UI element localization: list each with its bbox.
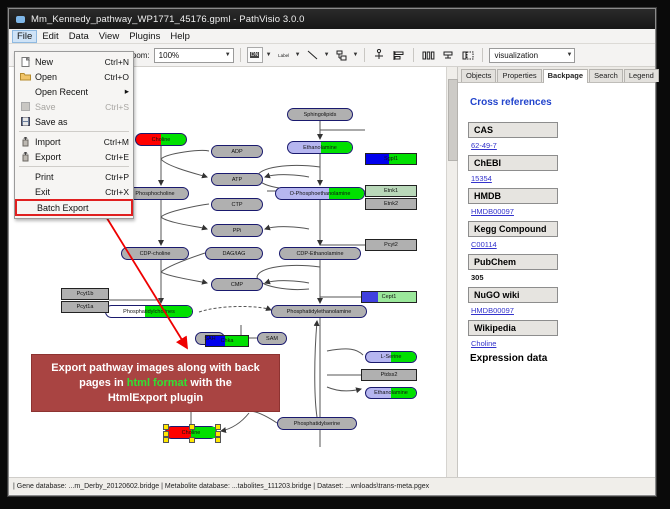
resize-handle[interactable] xyxy=(163,424,169,430)
menu-item-accelerator: Ctrl+M xyxy=(104,137,129,147)
file-menu-rows: NewCtrl+NOpenCtrl+OOpen Recent▸SaveCtrl+… xyxy=(15,54,133,216)
menu-view[interactable]: View xyxy=(94,30,124,43)
node-label: Choline xyxy=(182,430,201,436)
menu-item-print[interactable]: PrintCtrl+P xyxy=(15,169,133,184)
anchor-glyph xyxy=(373,49,385,61)
tab-search[interactable]: Search xyxy=(589,69,623,82)
chevron-down-icon-2: ▼ xyxy=(567,52,573,58)
interaction-dropdown-icon[interactable]: ▼ xyxy=(353,52,359,58)
zoom-value: 100% xyxy=(159,51,179,60)
node-label: Sgpl1 xyxy=(384,156,398,162)
node-label: PPi xyxy=(233,228,242,234)
metabolite-node-ppi[interactable]: PPi xyxy=(211,224,263,237)
gene-node-ptdss2[interactable]: Ptdss2 xyxy=(361,369,417,381)
menu-item-import[interactable]: ImportCtrl+M xyxy=(15,134,133,149)
node-label: CMP xyxy=(231,282,243,288)
node-label: CDP-Ethanolamine xyxy=(296,251,343,257)
menu-item-accelerator: Ctrl+P xyxy=(105,172,129,182)
cross-reference-entry: PubChem305 xyxy=(468,254,647,282)
resize-handle[interactable] xyxy=(163,431,169,437)
tab-objects[interactable]: Objects xyxy=(461,69,496,82)
cross-reference-db-name: NuGO wiki xyxy=(468,287,558,303)
node-label: Pcyt1a xyxy=(77,304,94,310)
align-left-glyph xyxy=(393,50,405,61)
menu-item-accelerator: Ctrl+S xyxy=(105,102,129,112)
node-label: O-Phosphoethanolamine xyxy=(290,191,351,197)
node-label: Phosphatidylcholines xyxy=(123,309,175,315)
cross-reference-db-name: CAS xyxy=(468,122,558,138)
screenshot-root: Mm_Kennedy_pathway_WP1771_45176.gpml - P… xyxy=(0,0,670,509)
datanode-tool-icon[interactable]: DN xyxy=(247,47,263,63)
cross-reference-db-name: HMDB xyxy=(468,188,558,204)
menu-item-label: Print xyxy=(35,172,105,182)
application-window: Mm_Kennedy_pathway_WP1771_45176.gpml - P… xyxy=(8,8,656,496)
cross-reference-entry: ChEBI15354 xyxy=(468,155,647,183)
submenu-arrow-icon: ▸ xyxy=(125,86,129,97)
datanode-dropdown-icon[interactable]: ▼ xyxy=(266,52,272,58)
menu-plugins[interactable]: Plugins xyxy=(124,30,165,43)
menu-item-label: Exit xyxy=(35,187,105,197)
node-label: SAM xyxy=(266,336,278,342)
window-title: Mm_Kennedy_pathway_WP1771_45176.gpml - P… xyxy=(31,14,305,25)
callout-line2-post: with the xyxy=(187,377,232,389)
cross-reference-db-name: Kegg Compound xyxy=(468,221,558,237)
pathvisio-icon xyxy=(15,14,26,25)
label-dropdown-icon[interactable]: ▼ xyxy=(295,52,301,58)
metabolite-node-adp[interactable]: ADP xyxy=(211,145,263,158)
save-as-icon xyxy=(19,116,32,127)
interaction-tool-icon[interactable] xyxy=(334,48,350,62)
toolbar-separator-2 xyxy=(364,48,365,62)
menu-divider xyxy=(19,166,129,167)
callout-line3: HtmlExport plugin xyxy=(108,392,203,404)
node-label: Ethanolamine xyxy=(303,145,337,151)
cross-reference-entry: NuGO wikiHMDB00097 xyxy=(468,287,647,315)
menu-item-label: New xyxy=(35,57,105,67)
node-label: CTP xyxy=(232,202,243,208)
node-label: Etnk2 xyxy=(384,201,398,207)
metabolite-node-cdp-ethanolamine[interactable]: CDP-Ethanolamine xyxy=(279,247,361,260)
datanode-glyph: DN xyxy=(250,52,259,58)
canvas-vertical-scrollbar[interactable] xyxy=(446,67,457,477)
metabolite-node-phosphatidylethanolamine[interactable]: Phosphatidylethanolamine xyxy=(271,305,367,318)
menu-bar: File Edit Data View Plugins Help xyxy=(9,29,655,44)
group-tool-icon[interactable] xyxy=(460,48,476,62)
node-label: SAH xyxy=(204,336,215,342)
menu-item-label: Open Recent xyxy=(35,87,125,97)
cross-reference-list: CAS62-49-7ChEBI15354HMDBHMDB00097Kegg Co… xyxy=(468,122,647,348)
metabolite-node-sphingolipids[interactable]: Sphingolipids xyxy=(287,108,353,121)
menu-item-label: Export xyxy=(35,152,105,162)
metabolite-node-choline[interactable]: Choline xyxy=(135,133,187,146)
interaction-glyph xyxy=(336,50,348,61)
resize-handle[interactable] xyxy=(163,437,169,443)
menu-item-label: Import xyxy=(35,137,104,147)
stack-tool-icon[interactable] xyxy=(440,48,456,62)
node-label: Ethanolamine xyxy=(374,390,408,396)
cross-references-title: Cross references xyxy=(470,97,647,108)
line-glyph xyxy=(307,50,319,60)
status-bar: | Gene database: ...m_Derby_20120602.bri… xyxy=(9,477,655,494)
gene-node-pcyt2[interactable]: Pcyt2 xyxy=(365,239,417,251)
export-icon xyxy=(19,151,32,162)
metabolite-node-phosphatidylserine[interactable]: Phosphatidylserine xyxy=(277,417,357,430)
distribute-glyph xyxy=(422,50,435,61)
align-left-tool-icon[interactable] xyxy=(391,48,407,62)
node-label: Cept1 xyxy=(382,294,397,300)
metabolite-node-sam[interactable]: SAM xyxy=(257,332,287,345)
node-label: Ptdss2 xyxy=(381,372,398,378)
resize-handle[interactable] xyxy=(215,437,221,443)
resize-handle[interactable] xyxy=(189,437,195,443)
node-label: Phosphatidylethanolamine xyxy=(287,309,352,315)
backpage-content: Cross references CAS62-49-7ChEBI15354HMD… xyxy=(458,83,655,477)
distribute-tool-icon[interactable] xyxy=(420,48,436,62)
gene-node-etnk2[interactable]: Etnk2 xyxy=(365,198,417,210)
cross-reference-link[interactable]: C00114 xyxy=(471,240,647,249)
cross-reference-link[interactable]: Choline xyxy=(471,339,647,348)
menu-no-icon xyxy=(19,86,32,97)
cross-reference-entry: Kegg CompoundC00114 xyxy=(468,221,647,249)
menu-item-batch-export[interactable]: Batch Export xyxy=(15,199,133,216)
resize-handle[interactable] xyxy=(215,431,221,437)
new-file-icon xyxy=(19,56,32,67)
gene-node-etnk1[interactable]: Etnk1 xyxy=(365,185,417,197)
menu-item-exit[interactable]: ExitCtrl+X xyxy=(15,184,133,199)
toolbar-separator xyxy=(240,48,241,62)
visualization-combo[interactable]: visualization ▼ xyxy=(489,48,575,63)
cross-reference-entry: HMDBHMDB00097 xyxy=(468,188,647,216)
menu-help[interactable]: Help xyxy=(165,30,195,43)
menu-item-label: Open xyxy=(35,72,104,82)
node-label: ATP xyxy=(232,177,242,183)
menu-item-label: Save xyxy=(35,102,105,112)
node-label: ADP xyxy=(231,149,242,155)
node-label: CDP-choline xyxy=(140,251,171,257)
menu-item-open[interactable]: OpenCtrl+O xyxy=(15,69,133,84)
metabolite-node-ethanolamine[interactable]: Ethanolamine xyxy=(287,141,353,154)
node-label: Pcyt1b xyxy=(77,291,94,297)
cross-reference-link[interactable]: HMDB00097 xyxy=(471,306,647,315)
metabolite-node-choline[interactable]: Choline xyxy=(165,426,217,439)
open-folder-icon xyxy=(19,71,32,82)
menu-item-save: SaveCtrl+S xyxy=(15,99,133,114)
gene-node-pcyt1b[interactable]: Pcyt1b xyxy=(61,288,109,300)
menu-item-label: Save as xyxy=(35,117,129,127)
import-icon xyxy=(19,136,32,147)
menu-no-icon xyxy=(21,202,34,213)
metabolite-node-dag-iag[interactable]: DAG/IAG xyxy=(205,247,263,260)
menu-item-accelerator: Ctrl+O xyxy=(104,72,129,82)
menu-item-open-recent[interactable]: Open Recent▸ xyxy=(15,84,133,99)
menu-no-icon xyxy=(19,186,32,197)
expression-data-title: Expression data xyxy=(470,353,647,364)
group-glyph xyxy=(462,50,474,61)
anchor-tool-icon[interactable] xyxy=(371,48,387,62)
node-label: L-Serine xyxy=(381,354,402,360)
tab-legend[interactable]: Legend xyxy=(624,69,659,82)
metabolite-node-ethanolamine[interactable]: Ethanolamine xyxy=(365,387,417,399)
metabolite-node-phosphatidylcholines[interactable]: Phosphatidylcholines xyxy=(105,305,193,318)
node-label: Chka xyxy=(221,338,234,344)
line-tool-icon[interactable] xyxy=(305,48,321,62)
cross-reference-link[interactable]: 15354 xyxy=(471,174,647,183)
file-menu-dropdown[interactable]: NewCtrl+NOpenCtrl+OOpen Recent▸SaveCtrl+… xyxy=(14,51,134,219)
menu-item-label: Batch Export xyxy=(37,203,127,213)
tab-backpage[interactable]: Backpage xyxy=(543,69,588,83)
menu-item-accelerator: Ctrl+E xyxy=(105,152,129,162)
title-bar: Mm_Kennedy_pathway_WP1771_45176.gpml - P… xyxy=(9,9,655,29)
menu-divider xyxy=(19,131,129,132)
save-icon xyxy=(19,101,32,112)
metabolite-node-atp[interactable]: ATP xyxy=(211,173,263,186)
callout-line2-green: html format xyxy=(127,377,188,389)
gene-node-sgpl1[interactable]: Sgpl1 xyxy=(365,153,417,165)
toolbar-separator-3 xyxy=(413,48,414,62)
menu-item-accelerator: Ctrl+X xyxy=(105,187,129,197)
annotation-callout: Export pathway images along with back pa… xyxy=(31,354,280,412)
cross-reference-link[interactable]: HMDB00097 xyxy=(471,207,647,216)
node-label: Choline xyxy=(152,137,171,143)
metabolite-node-cdp-choline[interactable]: CDP-choline xyxy=(121,247,189,260)
node-label: Pcyt2 xyxy=(384,242,398,248)
zoom-combo[interactable]: 100% ▼ xyxy=(154,48,234,63)
metabolite-node-cmp[interactable]: CMP xyxy=(211,278,263,291)
gene-node-pcyt1a[interactable]: Pcyt1a xyxy=(61,301,109,313)
cross-reference-db-name: Wikipedia xyxy=(468,320,558,336)
chevron-down-icon: ▼ xyxy=(225,52,231,58)
metabolite-node-l-serine[interactable]: L-Serine xyxy=(365,351,417,363)
menu-data[interactable]: Data xyxy=(64,30,94,43)
node-label: Phosphatidylserine xyxy=(294,421,340,427)
menu-item-new[interactable]: NewCtrl+N xyxy=(15,54,133,69)
menu-no-icon xyxy=(19,171,32,182)
side-panel-tabs: Objects Properties Backpage Search Legen… xyxy=(458,67,655,83)
gene-node-cept1[interactable]: Cept1 xyxy=(361,291,417,303)
menu-edit[interactable]: Edit xyxy=(37,30,63,43)
resize-handle[interactable] xyxy=(215,424,221,430)
cross-reference-entry: WikipediaCholine xyxy=(468,320,647,348)
node-label: DAG/IAG xyxy=(223,251,246,257)
callout-line1: Export pathway images along with back xyxy=(51,362,259,374)
menu-file[interactable]: File xyxy=(12,30,37,43)
menu-item-export[interactable]: ExportCtrl+E xyxy=(15,149,133,164)
toolbar-separator-4 xyxy=(482,48,483,62)
canvas-scroll-thumb[interactable] xyxy=(448,79,458,161)
tab-properties[interactable]: Properties xyxy=(497,69,541,82)
status-text: | Gene database: ...m_Derby_20120602.bri… xyxy=(13,483,429,490)
cross-reference-db-name: PubChem xyxy=(468,254,558,270)
node-label: Etnk1 xyxy=(384,188,398,194)
callout-line2-pre: pages in xyxy=(79,377,127,389)
stack-glyph xyxy=(442,50,454,61)
label-tool-icon[interactable]: Label xyxy=(276,48,292,62)
cross-reference-link[interactable]: 62-49-7 xyxy=(471,141,647,150)
metabolite-node-o-phosphoethanolamine[interactable]: O-Phosphoethanolamine xyxy=(275,187,365,200)
cross-reference-value: 305 xyxy=(471,273,647,282)
node-label: Phosphocholine xyxy=(135,191,174,197)
visualization-value: visualization xyxy=(494,51,538,60)
node-label: Sphingolipids xyxy=(304,112,337,118)
metabolite-node-ctp[interactable]: CTP xyxy=(211,198,263,211)
label-glyph: Label xyxy=(278,53,289,58)
line-dropdown-icon[interactable]: ▼ xyxy=(324,52,330,58)
menu-item-accelerator: Ctrl+N xyxy=(105,57,129,67)
cross-reference-db-name: ChEBI xyxy=(468,155,558,171)
side-panel: Objects Properties Backpage Search Legen… xyxy=(458,67,655,477)
cross-reference-entry: CAS62-49-7 xyxy=(468,122,647,150)
menu-item-save-as[interactable]: Save as xyxy=(15,114,133,129)
